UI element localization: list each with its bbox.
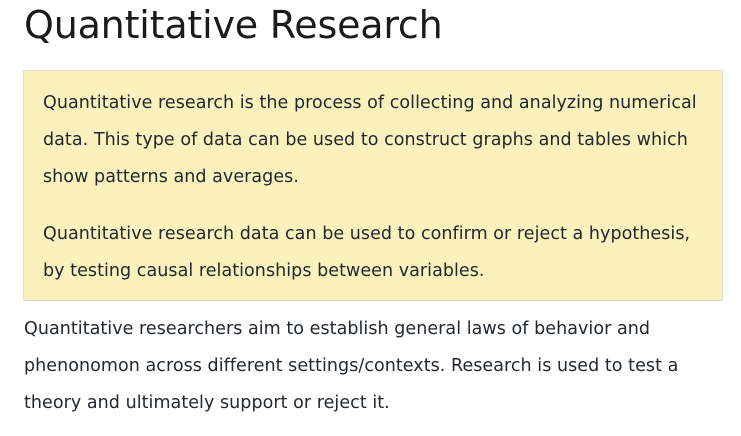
- body-text-block: Quantitative researchers aim to establis…: [24, 311, 724, 422]
- callout-paragraph-2: Quantitative research data can be used t…: [43, 216, 703, 290]
- page-title: Quantitative Research: [24, 2, 443, 50]
- body-paragraph-1: Quantitative researchers aim to establis…: [24, 311, 724, 422]
- callout-paragraph-1: Quantitative research is the process of …: [43, 85, 703, 196]
- article-page: Quantitative Research Quantitative resea…: [0, 0, 741, 436]
- highlighted-callout-box: Quantitative research is the process of …: [23, 70, 723, 301]
